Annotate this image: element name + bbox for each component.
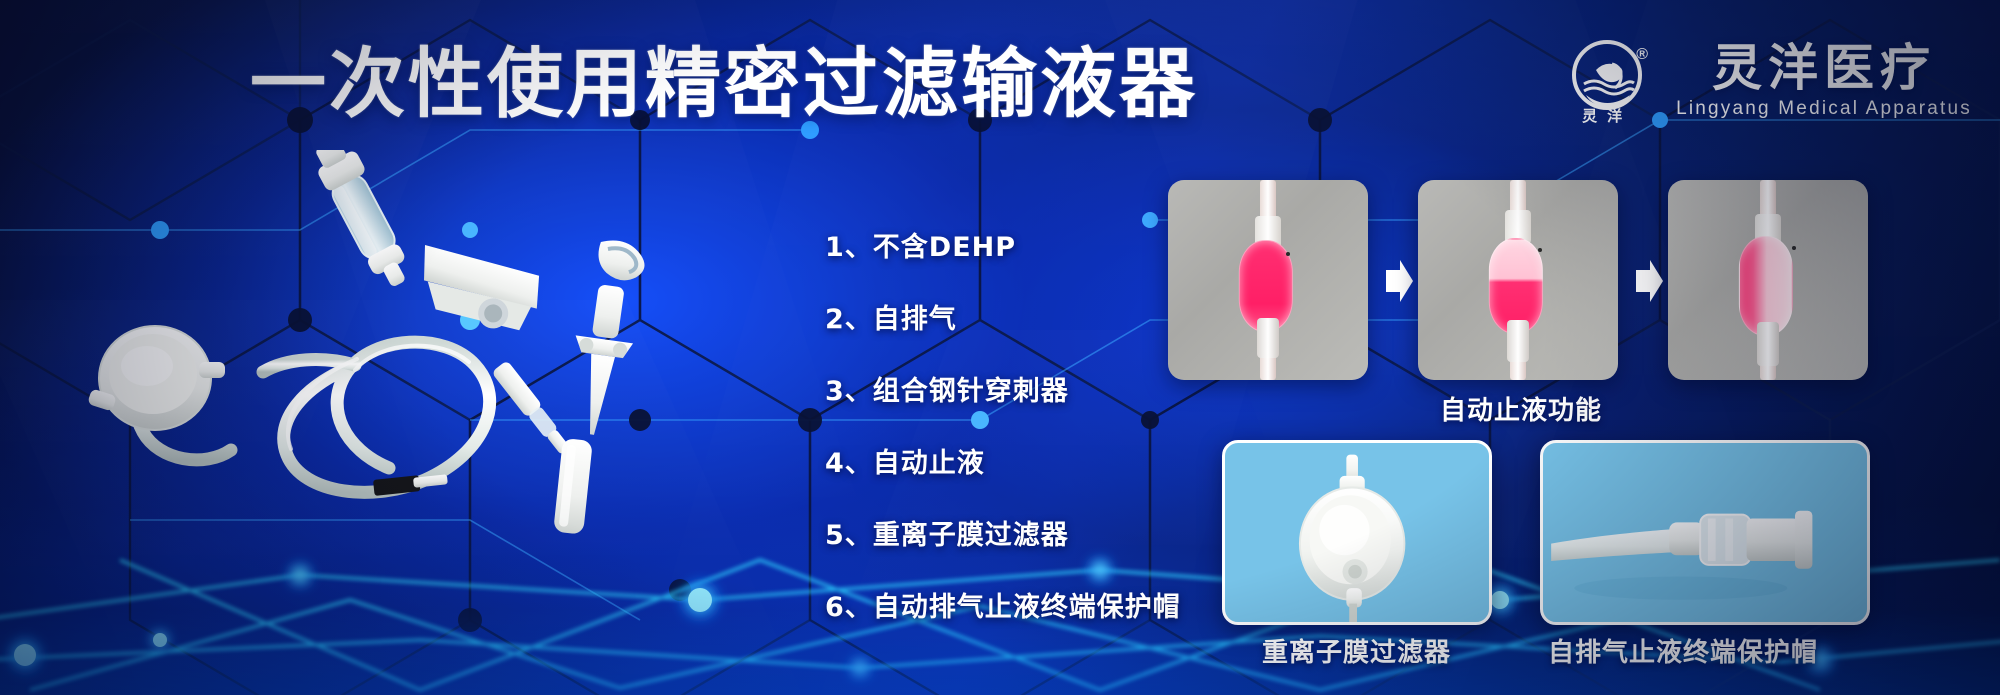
feature-item: 6、自动排气止液终端保护帽 xyxy=(825,585,1181,624)
arrow-right-icon xyxy=(1632,258,1666,304)
product-banner: 一次性使用精密过滤输液器 ® 灵洋 灵洋医疗 Lingyang Medical … xyxy=(0,0,2000,695)
gallery-photo-filter xyxy=(1222,440,1492,625)
brand-name-en: Lingyang Medical Apparatus xyxy=(1676,98,1972,120)
gallery-photo-drip-stopped xyxy=(1668,180,1868,380)
feature-item: 5、重离子膜过滤器 xyxy=(825,513,1181,552)
gallery-photo-drip-full xyxy=(1168,180,1368,380)
feature-item: 1、不含DEHP xyxy=(825,225,1181,264)
page-title: 一次性使用精密过滤输液器 xyxy=(250,46,1198,122)
feature-item: 4、自动止液 xyxy=(825,441,1181,480)
gallery-photo-cap xyxy=(1540,440,1870,625)
gallery-top-caption: 自动止液功能 xyxy=(1440,390,1602,427)
gallery-photo-drip-half xyxy=(1418,180,1618,380)
gallery-caption-filter: 重离子膜过滤器 xyxy=(1262,632,1451,669)
arrow-right-icon xyxy=(1382,258,1416,304)
brand-lockup: ® 灵洋 灵洋医疗 Lingyang Medical Apparatus xyxy=(1568,38,1972,124)
gallery-caption-cap: 自排气止液终端保护帽 xyxy=(1548,632,1818,669)
feature-item: 2、自排气 xyxy=(825,297,1181,336)
product-photo xyxy=(55,150,775,570)
feature-list: 1、不含DEHP 2、自排气 3、组合钢针穿刺器 4、自动止液 5、重离子膜过滤… xyxy=(825,225,1181,624)
lingyang-wave-emblem-icon: ® 灵洋 xyxy=(1568,38,1654,124)
brand-names: 灵洋医疗 Lingyang Medical Apparatus xyxy=(1676,42,1972,121)
registered-mark: ® xyxy=(1636,46,1648,64)
feature-item: 3、组合钢针穿刺器 xyxy=(825,369,1181,408)
brand-name-cn: 灵洋医疗 xyxy=(1712,42,1936,95)
logo-sub-label: 灵洋 xyxy=(1568,105,1646,126)
